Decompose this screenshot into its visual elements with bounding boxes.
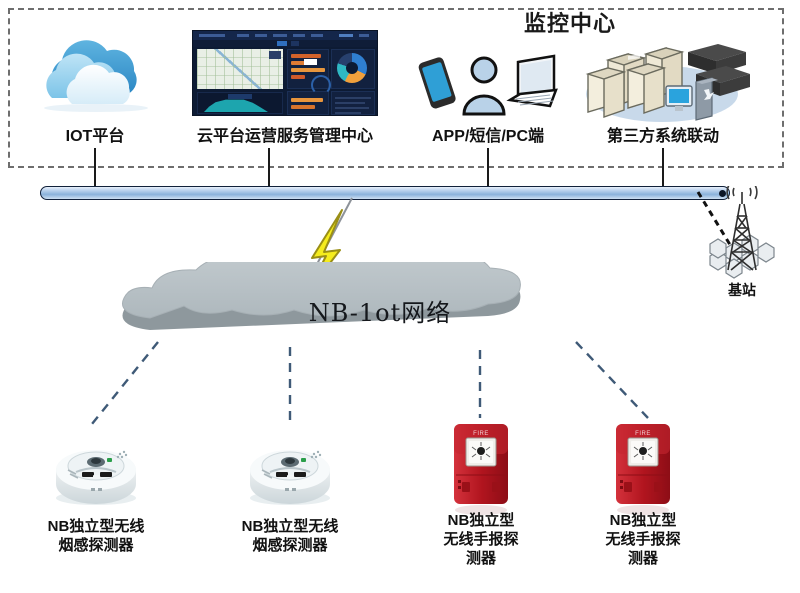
device-label-manual-2: NB独立型 无线手报探 测器 bbox=[578, 512, 708, 568]
nbiot-network-label: NB-1ot网络 bbox=[110, 293, 650, 328]
drop-line-app-sms-pc bbox=[487, 148, 489, 188]
phone-person-laptop-icon bbox=[414, 48, 560, 120]
network-backbone-bus bbox=[40, 186, 730, 200]
link-cloud-to-smoke-2 bbox=[270, 345, 310, 430]
smoke-detector-icon bbox=[46, 424, 146, 514]
svg-text:FIRE: FIRE bbox=[473, 431, 489, 437]
device-label-smoke-1: NB独立型无线 烟感探测器 bbox=[6, 518, 186, 556]
monitoring-center-title: 监控中心 bbox=[480, 6, 660, 38]
manual-call-point-icon: FIRE bbox=[608, 418, 678, 518]
link-cloud-to-manual-2 bbox=[570, 340, 660, 422]
dashboard-screen-icon bbox=[192, 30, 378, 116]
drop-line-third-party bbox=[662, 148, 664, 188]
device-label-manual-1: NB独立型 无线手报探 测器 bbox=[416, 512, 546, 568]
node-label-app-sms-pc: APP/短信/PC端 bbox=[400, 128, 576, 146]
device-label-smoke-2: NB独立型无线 烟感探测器 bbox=[200, 518, 380, 556]
node-label-third-party: 第三方系统联动 bbox=[578, 128, 748, 146]
server-rack-icon bbox=[570, 30, 752, 126]
diagram-canvas: 监控中心 IOT平台 bbox=[0, 0, 800, 593]
cloud-icon bbox=[30, 28, 160, 120]
link-cloud-to-manual-1 bbox=[460, 348, 500, 420]
node-label-cloud-platform: 云平台运营服务管理中心 bbox=[160, 128, 410, 146]
drop-line-cloud-platform bbox=[268, 148, 270, 188]
base-station-label: 基站 bbox=[692, 280, 792, 300]
node-label-iot-platform: IOT平台 bbox=[20, 128, 170, 146]
link-cloud-to-smoke-1 bbox=[80, 340, 170, 430]
manual-call-point-icon: FIRE bbox=[446, 418, 516, 518]
drop-line-iot-platform bbox=[94, 148, 96, 188]
smoke-detector-icon bbox=[240, 424, 340, 514]
svg-text:FIRE: FIRE bbox=[635, 431, 651, 437]
